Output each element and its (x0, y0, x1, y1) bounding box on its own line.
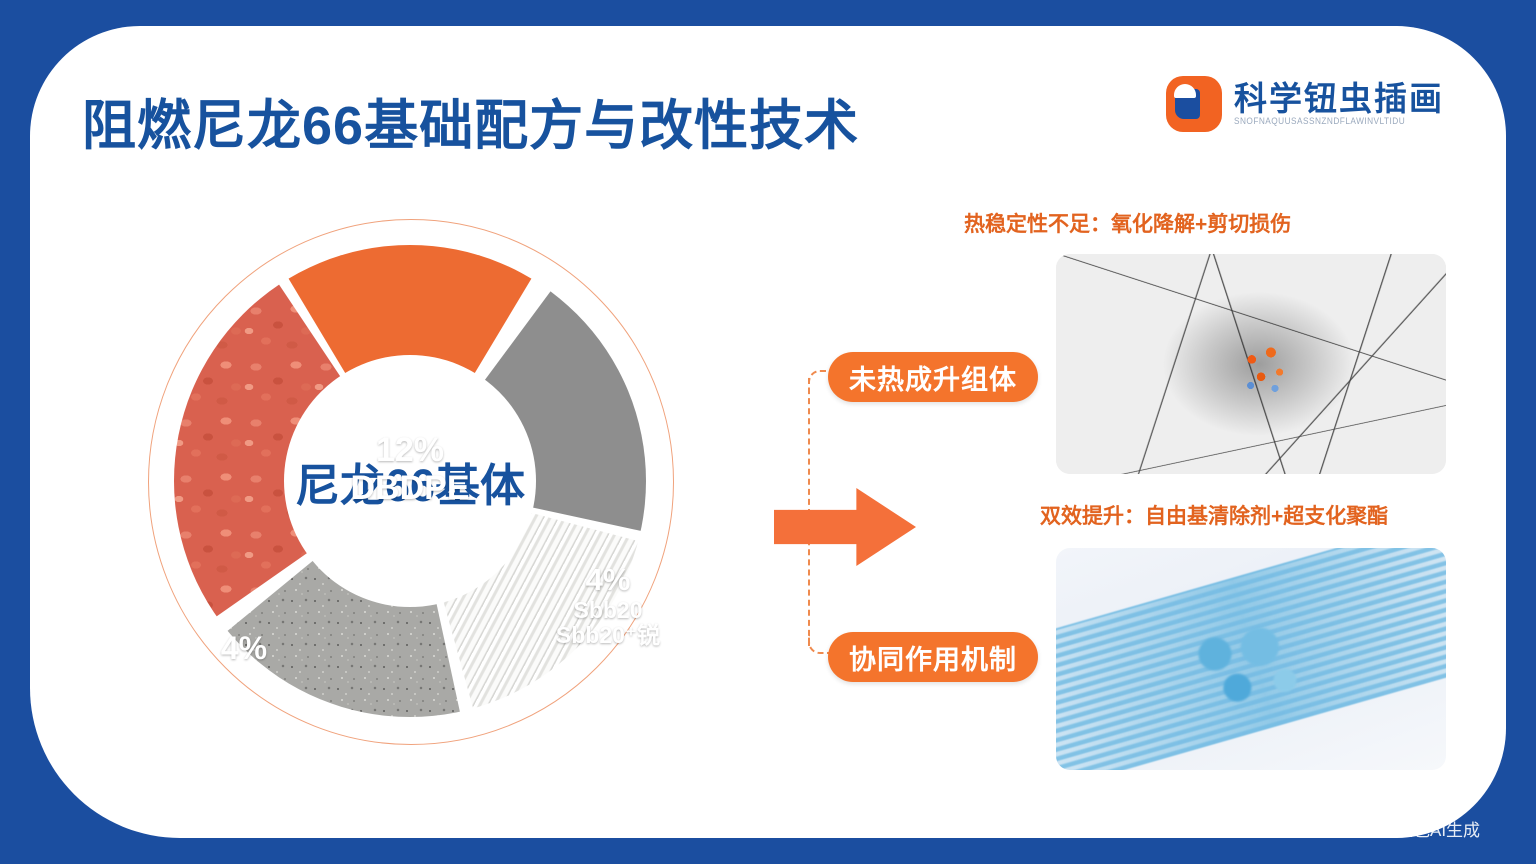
panel-bottom-caption: 双效提升：自由基清除剂+超支化聚酯 (1040, 500, 1388, 530)
donut-label-antimony-name: Sbb20 (573, 597, 642, 623)
donut-label-antimony-percent: 4% (556, 563, 660, 598)
slide-background: 阻燃尼龙66基础配方与改性技术 科学钮虫插画 SNOFNAQUUSASSNZND… (0, 0, 1536, 864)
cracked-surface-icon (1056, 254, 1446, 474)
donut-label-pellets-percent: 4% (221, 630, 267, 666)
donut-label-antimony: 4% Sbb20 Sbb20⁺锐 (556, 563, 660, 649)
slide-card: 阻燃尼龙66基础配方与改性技术 科学钮虫插画 SNOFNAQUUSASSNZND… (30, 26, 1506, 838)
logo-icon (1166, 76, 1222, 132)
flow-pill-bottom[interactable]: 协同作用机制 (828, 632, 1038, 682)
donut-label-pellets: 4% (221, 631, 267, 667)
donut-label-dbdpe-percent: 12% (376, 431, 444, 469)
logo-text-group: 科学钮虫插画 SNOFNAQUUSASSNZNDFLAWINVLTIDU (1234, 82, 1444, 127)
logo-subtitle: SNOFNAQUUSASSNZNDFLAWINVLTIDU (1234, 116, 1427, 126)
panel-top-caption: 热稳定性不足：氧化降解+剪切损伤 (964, 208, 1291, 238)
donut-label-dbdpe: 12% DBDPE (350, 431, 469, 507)
donut-label-antimony-name2: Sbb20⁺锐 (556, 622, 660, 648)
brand-logo: 科学钮虫插画 SNOFNAQUUSASSNZNDFLAWINVLTIDU (1166, 64, 1466, 144)
panel-top-image[interactable] (1056, 254, 1446, 474)
blue-fiber-icon (1056, 548, 1446, 770)
donut-chart: 尼龙66基体 12% DBDPE 4% Sbb20 Sbb20⁺锐 4% 30%… (130, 201, 690, 801)
watermark: 豆包AI生成 (1396, 816, 1480, 841)
donut-label-dbdpe-name: DBDPE (350, 469, 469, 507)
panel-bottom-image[interactable] (1056, 548, 1446, 770)
logo-name: 科学钮虫插画 (1234, 82, 1444, 117)
page-title: 阻燃尼龙66基础配方与改性技术 (82, 81, 859, 160)
flow-pill-top[interactable]: 未热成升组体 (828, 352, 1038, 402)
